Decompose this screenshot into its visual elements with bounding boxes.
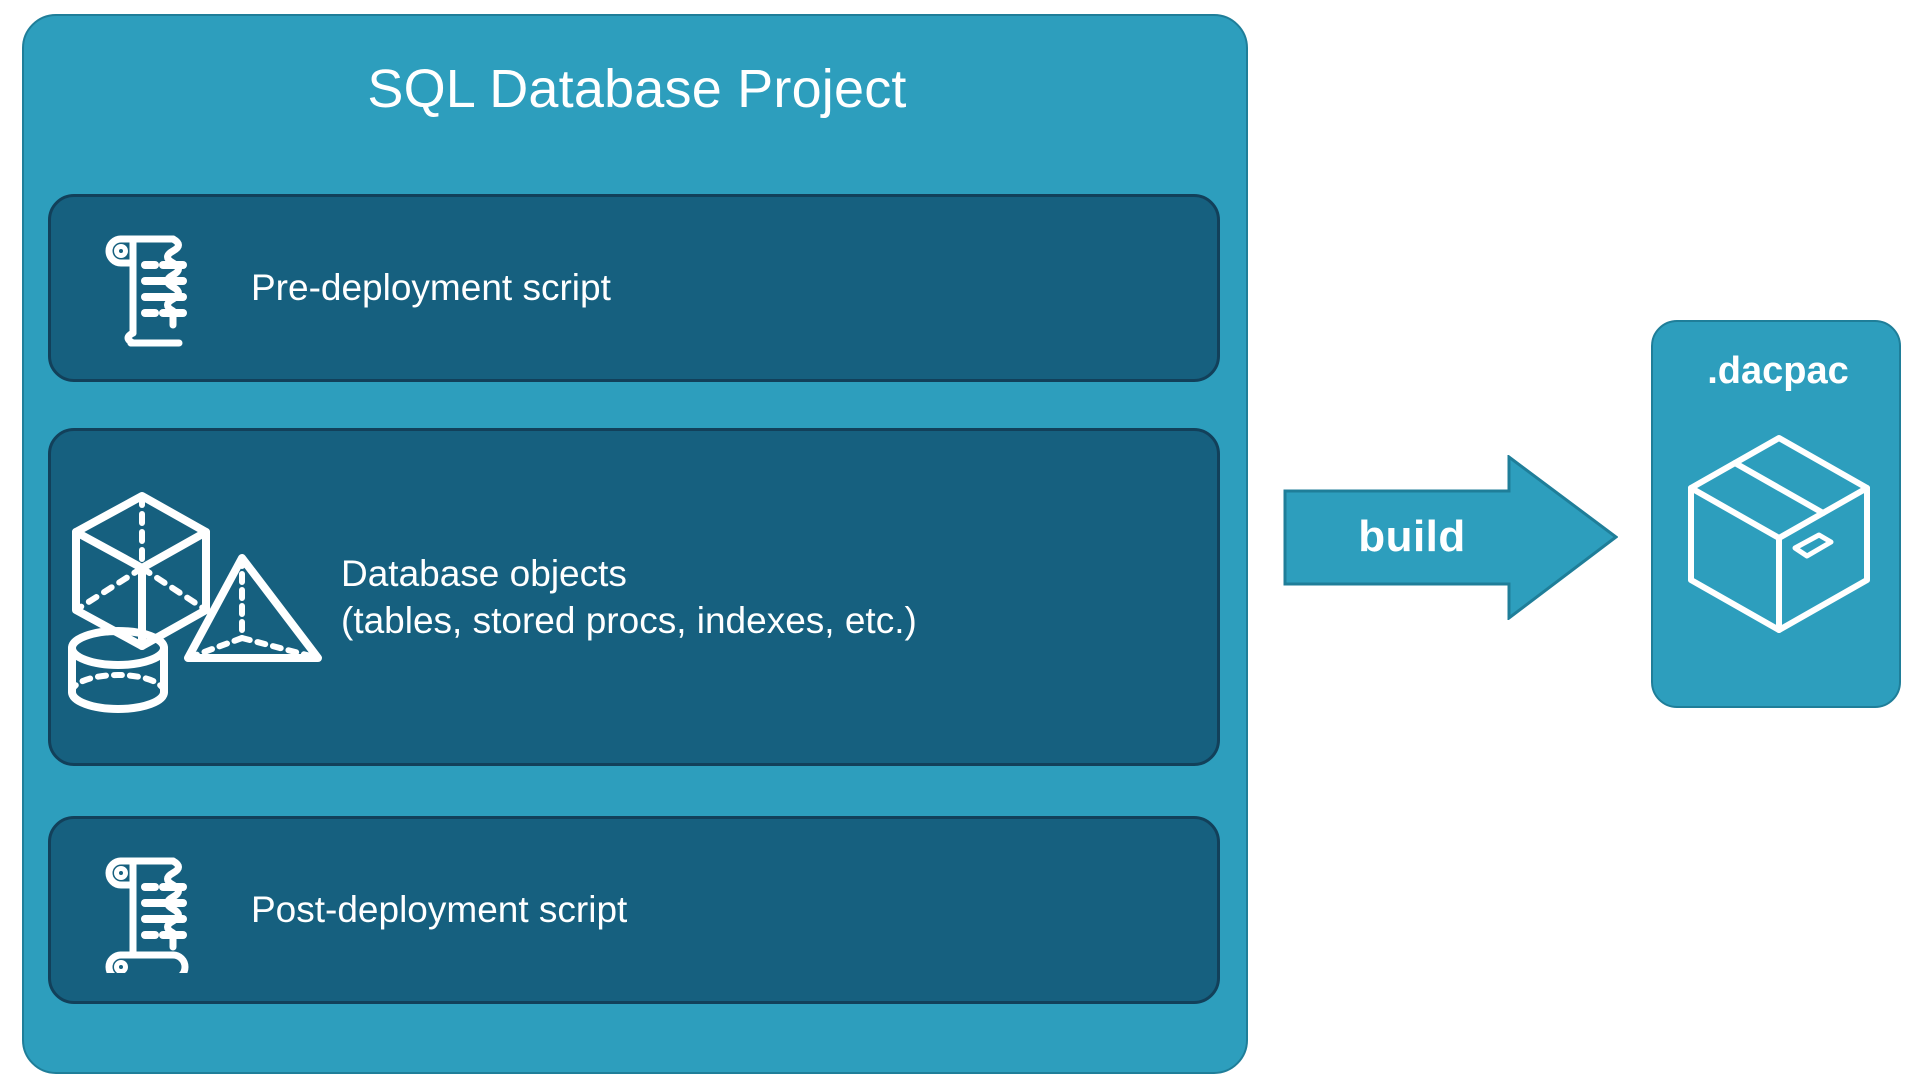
- shapes-icon: [56, 470, 336, 725]
- scroll-icon: [91, 843, 211, 978]
- dacpac-output-card: .dacpac: [1651, 320, 1901, 708]
- pre-deployment-icon-slot: [51, 221, 251, 356]
- post-deployment-icon-slot: [51, 843, 251, 978]
- post-deployment-script-box: Post-deployment script: [48, 816, 1220, 1004]
- pre-deployment-script-box: Pre-deployment script: [48, 194, 1220, 382]
- right-arrow-icon: [1283, 455, 1618, 620]
- post-deployment-script-label: Post-deployment script: [251, 886, 627, 933]
- pre-deployment-script-label: Pre-deployment script: [251, 264, 611, 311]
- page-title: SQL Database Project: [24, 58, 1250, 120]
- cube-icon: [76, 496, 206, 646]
- sql-database-project-panel: SQL Database Project: [22, 14, 1248, 1074]
- database-objects-icon-slot: [51, 470, 341, 725]
- build-arrow: [1283, 455, 1618, 620]
- dacpac-title: .dacpac: [1653, 350, 1903, 393]
- scroll-icon: [91, 221, 211, 356]
- diagram-canvas: SQL Database Project: [0, 0, 1920, 1080]
- database-objects-label: Database objects (tables, stored procs, …: [341, 550, 917, 645]
- database-objects-box: Database objects (tables, stored procs, …: [48, 428, 1220, 766]
- package-box-icon: [1679, 422, 1879, 637]
